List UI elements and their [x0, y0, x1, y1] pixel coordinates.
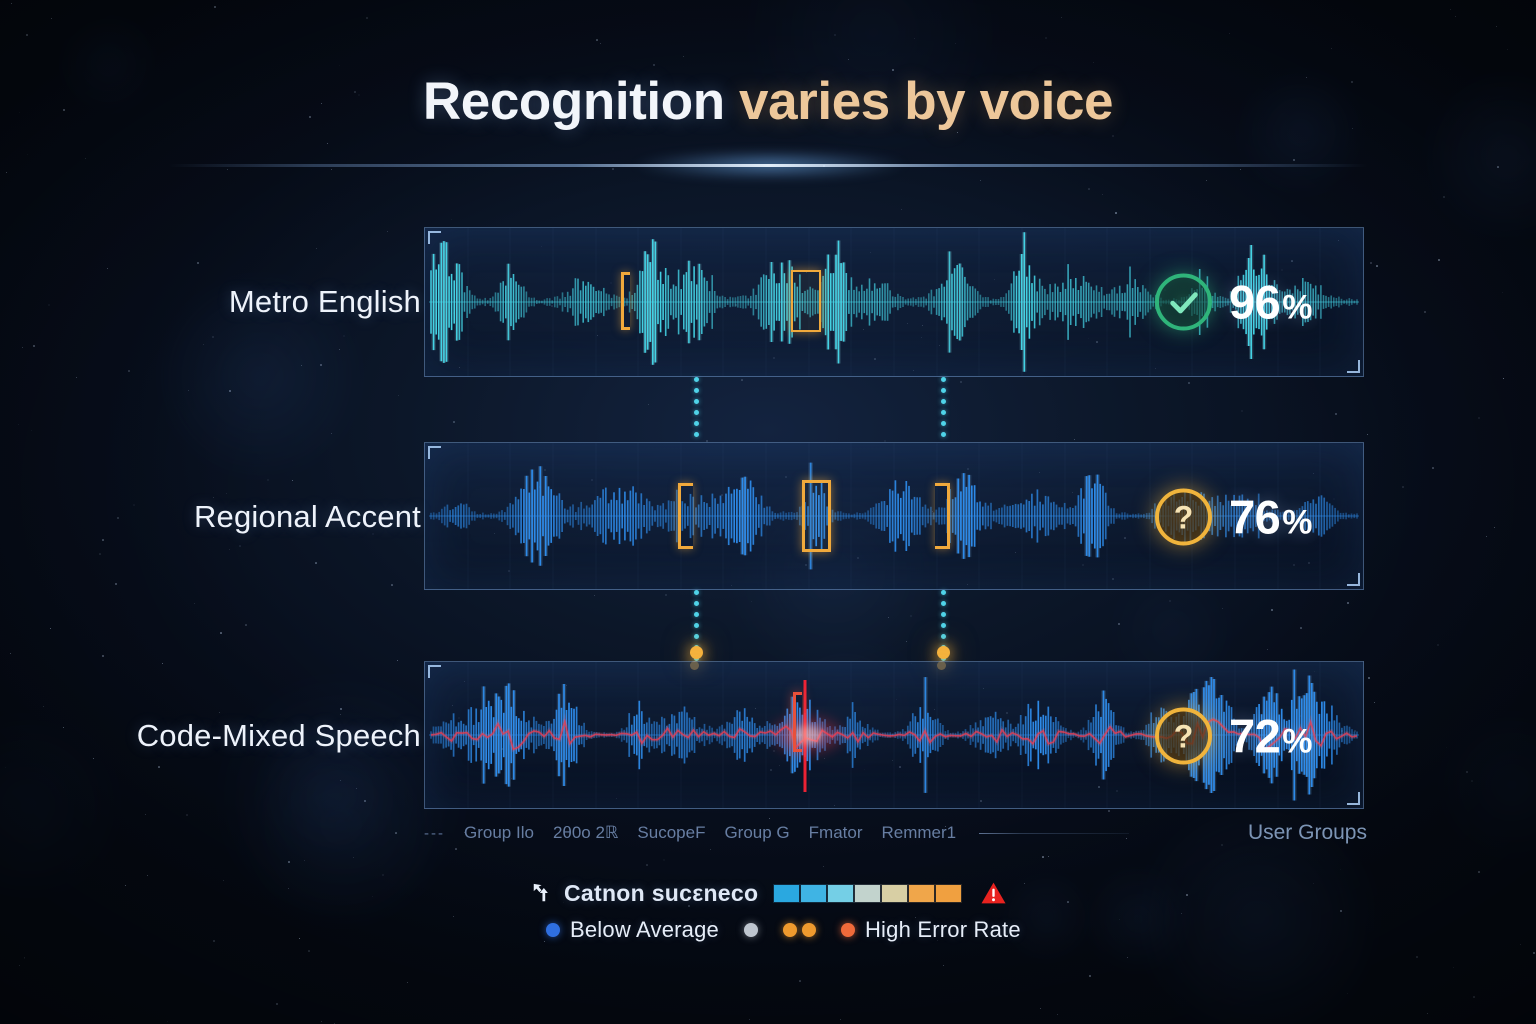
gradient-swatch — [827, 884, 854, 903]
score-number: 96 — [1229, 275, 1280, 330]
question-circle-icon: ? — [1155, 489, 1212, 546]
percent-symbol: % — [1282, 289, 1312, 328]
axis-right-label: User Groups — [1248, 821, 1367, 845]
score-value-metro-english: 96% — [1229, 275, 1312, 330]
legend-primary: Catnon sucεneco — [531, 878, 1007, 908]
gradient-swatch — [935, 884, 962, 903]
percent-symbol: % — [1282, 723, 1312, 762]
waveform-marker-icon — [621, 272, 630, 330]
axis-rule — [979, 833, 1129, 834]
score-group-metro-english: 96% — [1155, 274, 1312, 331]
waveform-marker-icon — [793, 692, 802, 752]
axis-item: Remmer1 — [882, 823, 957, 843]
legend-dot-icon — [841, 923, 855, 937]
row-label-regional-accent: Regional Accent — [194, 499, 421, 535]
title-divider — [168, 164, 1368, 167]
axis-item: SucopeF — [637, 823, 705, 843]
axis-item: Group Ilo — [464, 823, 534, 843]
legend-dot-icon — [802, 923, 816, 937]
waveform-marker-icon — [935, 483, 950, 549]
cursor-arrow-icon — [531, 882, 553, 904]
legend-dot-icon — [783, 923, 797, 937]
legend-dot-icon — [546, 923, 560, 937]
gradient-scale-bar — [773, 884, 962, 903]
axis-dash-prefix: --- — [424, 825, 445, 842]
axis-item: Fmator — [809, 823, 863, 843]
page-title-accent: varies by voice — [739, 72, 1113, 131]
axis-item: 2θ0o 2ℝ — [553, 823, 618, 843]
gradient-swatch — [800, 884, 827, 903]
row-label-code-mixed-speech: Code-Mixed Speech — [137, 718, 421, 754]
page-title: Recognition varies by voice — [0, 74, 1536, 130]
axis-caption-strip: --- Group Ilo 2θ0o 2ℝ SucopeF Group G Fm… — [424, 817, 1364, 849]
percent-symbol: % — [1282, 504, 1312, 543]
warning-triangle-icon — [980, 881, 1007, 905]
page-title-primary: Recognition — [423, 72, 739, 131]
score-number: 76 — [1229, 490, 1280, 545]
waveform-marker-icon — [791, 270, 821, 332]
score-number: 72 — [1229, 709, 1280, 764]
legend-label-high-error-rate: High Error Rate — [865, 917, 1021, 943]
question-circle-icon: ? — [1155, 708, 1212, 765]
waveform-marker-icon — [802, 480, 831, 552]
title-block: Recognition varies by voice — [0, 74, 1536, 130]
legend-secondary: Below Average High Error Rate — [546, 916, 1021, 944]
legend-primary-label: Catnon sucεneco — [564, 880, 758, 907]
voice-group-row[interactable]: Metro English 96% — [0, 227, 1536, 377]
gradient-swatch — [854, 884, 881, 903]
row-label-metro-english: Metro English — [229, 284, 421, 320]
gradient-swatch — [881, 884, 908, 903]
gradient-swatch — [908, 884, 935, 903]
waveform-marker-icon — [678, 483, 693, 549]
score-value-regional-accent: 76% — [1229, 490, 1312, 545]
legend-label-below-average: Below Average — [570, 917, 719, 943]
score-group-regional-accent: ? 76% — [1155, 489, 1312, 546]
axis-item: Group G — [724, 823, 789, 843]
score-group-code-mixed-speech: ? 72% — [1155, 708, 1312, 765]
voice-group-row[interactable]: Regional Accent ? 76% — [0, 442, 1536, 592]
score-value-code-mixed-speech: 72% — [1229, 709, 1312, 764]
voice-group-row[interactable]: Code-Mixed Speech ? 72% — [0, 661, 1536, 811]
legend-dot-icon — [744, 923, 758, 937]
legend-dot-pair — [783, 923, 816, 937]
gradient-swatch — [773, 884, 800, 903]
check-circle-icon — [1155, 274, 1212, 331]
